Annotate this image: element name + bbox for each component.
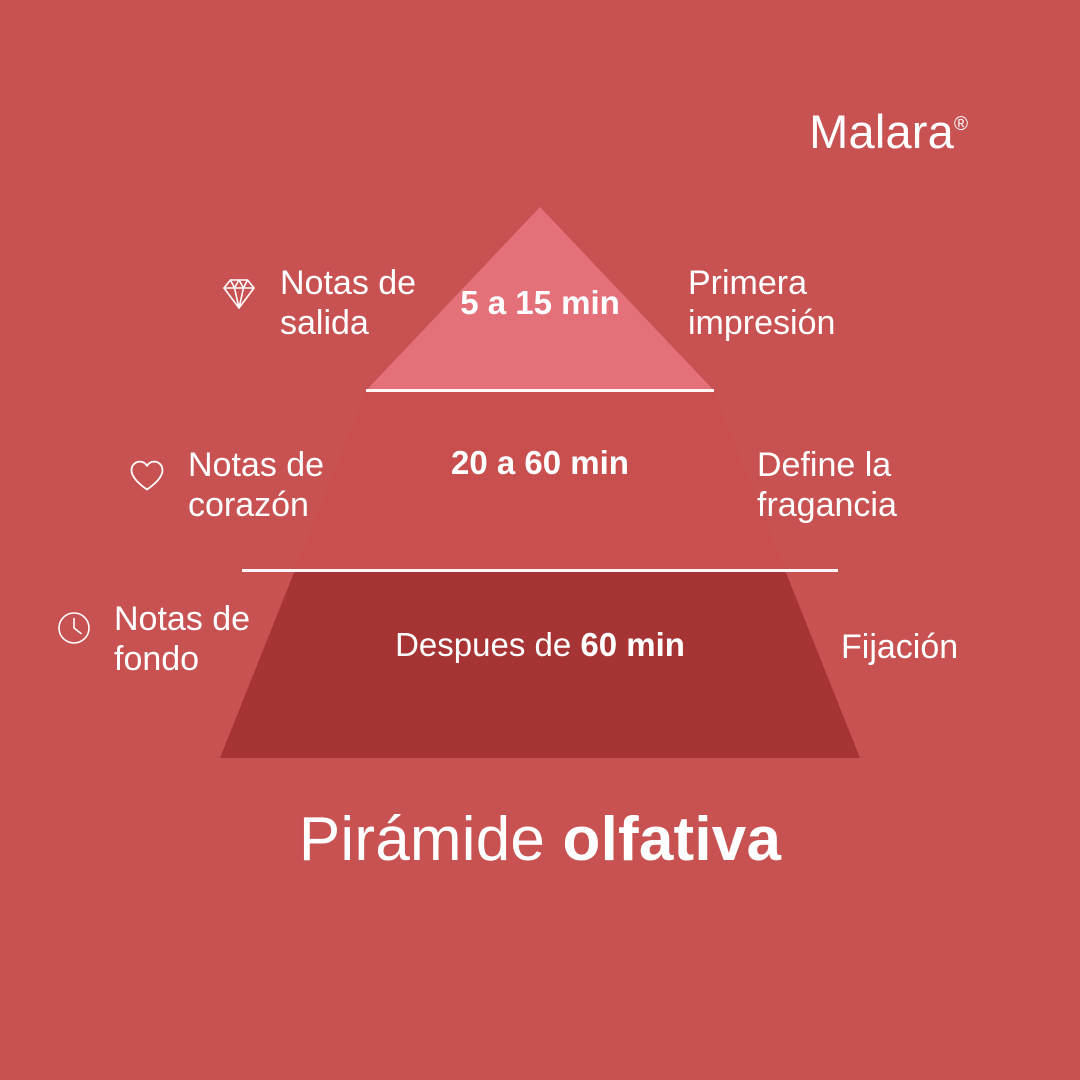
divider-top [366,389,714,392]
tier-top-left: Notas de salida [216,264,416,344]
tier-bottom-right-label: Fijación [841,628,958,668]
tier-middle-left-label: Notas de corazón [188,446,324,526]
divider-middle [242,569,838,572]
tier-top-center-label: 5 a 15 min [440,284,640,322]
tier-middle-center-label: 20 a 60 min [400,444,680,482]
tier-bottom-center-prefix: Despues de [395,626,580,663]
page-title: Pirámide olfativa [0,806,1080,874]
tier-bottom-left: Notas de fondo [52,600,250,680]
brand-logo: Malara® [809,108,968,155]
tier-bottom-center-strong: 60 min [580,626,685,663]
tier-middle-left: Notas de corazón [124,446,324,526]
tier-middle-right-label: Define la fragancia [757,446,897,526]
heart-icon [124,452,170,498]
tier-bottom-center-label: Despues de 60 min [300,626,780,664]
tier-top-right-label: Primera impresión [688,264,835,344]
registered-trademark-icon: ® [954,114,968,135]
page-title-light: Pirámide [299,805,563,874]
clock-icon [52,606,96,650]
infographic-canvas: Malara® Notas de salida 5 a 15 min Prime… [0,0,1080,1080]
tier-top-left-label: Notas de salida [280,264,416,344]
tier-bottom-left-label: Notas de fondo [114,600,250,680]
diamond-icon [216,270,262,316]
page-title-bold: olfativa [563,805,782,874]
pyramid-graphic [0,0,1080,1080]
brand-name: Malara [809,105,954,158]
